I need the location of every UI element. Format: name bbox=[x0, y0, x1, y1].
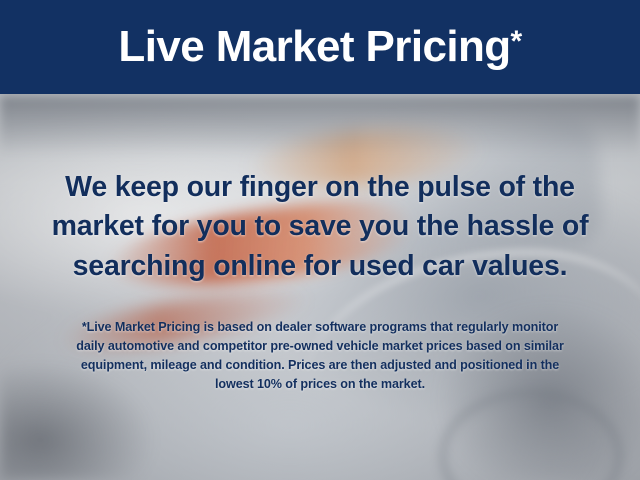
headline-line-3: searching online for used car values. bbox=[0, 247, 640, 286]
header-title-text: Live Market Pricing bbox=[118, 22, 510, 71]
header-title: Live Market Pricing* bbox=[118, 25, 521, 69]
footnote-line-3: equipment, mileage and condition. Prices… bbox=[22, 356, 618, 375]
header-banner: Live Market Pricing* bbox=[0, 0, 640, 94]
live-market-pricing-poster: Live Market Pricing* We keep our finger … bbox=[0, 0, 640, 480]
footnote-line-4: lowest 10% of prices on the market. bbox=[22, 375, 618, 394]
header-title-asterisk: * bbox=[511, 25, 522, 58]
headline-block: We keep our finger on the pulse of the m… bbox=[0, 168, 640, 286]
footnote-line-2: daily automotive and competitor pre-owne… bbox=[22, 337, 618, 356]
headline-line-2: market for you to save you the hassle of bbox=[0, 207, 640, 246]
headline-line-1: We keep our finger on the pulse of the bbox=[0, 168, 640, 207]
footnote-block: *Live Market Pricing is based on dealer … bbox=[22, 318, 618, 395]
footnote-line-1: *Live Market Pricing is based on dealer … bbox=[22, 318, 618, 337]
